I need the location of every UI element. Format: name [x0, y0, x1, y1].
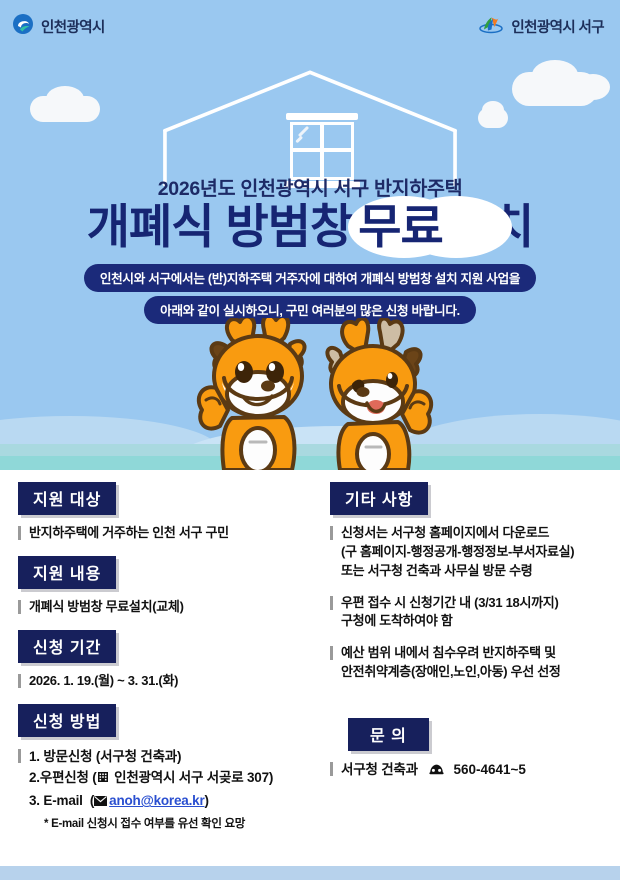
section-target-item: 반지하주택에 거주하는 인천 서구 구민: [18, 524, 318, 543]
etc-item-2-line-1: 우편 접수 시 신청기간 내 (3/31 18시까지): [341, 594, 610, 613]
section-period: 신청 기간 2026. 1. 19.(월) ~ 3. 31.(화): [18, 630, 318, 691]
etc-item-2-line-2: 구청에 도착하여야 함: [341, 612, 610, 631]
etc-item-1-line-3: 또는 서구청 건축과 사무실 방문 수령: [341, 562, 610, 581]
etc-item-1-line-2: (구 홈페이지-행정공개-행정정보-부서자료실): [341, 543, 610, 562]
method-item-3-label: E-mail: [43, 793, 82, 808]
method-item-1-text: 방문신청 (서구청 건축과): [43, 749, 181, 764]
section-target: 지원 대상 반지하주택에 거주하는 인천 서구 구민: [18, 482, 318, 543]
etc-item-2: 우편 접수 시 신청기간 내 (3/31 18시까지) 구청에 도착하여야 함: [330, 594, 610, 632]
right-column: 기타 사항 신청서는 서구청 홈페이지에서 다운로드 (구 홈페이지-행정공개-…: [330, 482, 610, 794]
seogu-logo-label: 인천광역시 서구: [511, 16, 604, 37]
method-item-2-number: 2.: [29, 770, 40, 785]
method-note: * E-mail 신청시 접수 여부를 유선 확인 요망: [18, 815, 318, 831]
inquiry-dept: 서구청 건축과: [341, 762, 418, 777]
method-item-1-number: 1.: [29, 749, 40, 764]
seogu-logo: 인천광역시 서구: [478, 13, 604, 40]
content-area: 지원 대상 반지하주택에 거주하는 인천 서구 구민 지원 내용 개폐식 방범창…: [0, 482, 620, 852]
description-banner: 인천시와 서구에서는 (반)지하주택 거주자에 대하여 개폐식 방범창 설치 지…: [0, 264, 620, 324]
footer-bar: [0, 866, 620, 880]
seogu-logo-icon: [478, 13, 504, 40]
incheon-logo: 인천광역시: [12, 13, 105, 40]
poster-subtitle: 2026년도 인천광역시 서구 반지하주택: [0, 172, 620, 201]
etc-item-1: 신청서는 서구청 홈페이지에서 다운로드 (구 홈페이지-행정공개-행정정보-부…: [330, 524, 610, 581]
method-item-2: 2.우편신청 (: [29, 767, 318, 790]
deer-mascot-thumbs-up-icon: [180, 318, 440, 470]
section-content-heading: 지원 내용: [18, 556, 116, 589]
method-item-3-number: 3.: [29, 793, 40, 808]
title-highlight: 무료: [358, 200, 442, 253]
method-list: 1. 방문신청 (서구청 건축과) 2.우편신청 (: [18, 746, 318, 814]
inquiry-row: 서구청 건축과 560-4641~5: [330, 760, 610, 781]
section-etc: 기타 사항 신청서는 서구청 홈페이지에서 다운로드 (구 홈페이지-행정공개-…: [330, 482, 610, 682]
section-method-heading: 신청 방법: [18, 704, 116, 737]
method-item-3-paren-close: ): [205, 793, 209, 808]
incheon-logo-label: 인천광역시: [41, 16, 105, 37]
etc-item-3: 예산 범위 내에서 침수우려 반지하주택 및 안전취약계층(장애인,노인,아동)…: [330, 644, 610, 682]
section-target-heading: 지원 대상: [18, 482, 116, 515]
method-item-1: 1. 방문신청 (서구청 건축과): [29, 746, 318, 768]
etc-item-1-line-1: 신청서는 서구청 홈페이지에서 다운로드: [341, 524, 610, 543]
incheon-swirl-logo-icon: [12, 13, 34, 40]
email-link[interactable]: anoh@korea.kr: [109, 793, 204, 808]
etc-item-3-line-1: 예산 범위 내에서 침수우려 반지하주택 및: [341, 644, 610, 663]
poster-title: 개폐식 방범창무료설치: [0, 198, 620, 251]
title-part-1: 개폐식 방범창: [87, 202, 353, 251]
envelope-icon: [94, 791, 107, 813]
inquiry-phone: 560-4641~5: [454, 762, 526, 777]
left-column: 지원 대상 반지하주택에 거주하는 인천 서구 구민 지원 내용 개폐식 방범창…: [18, 482, 318, 844]
post-office-icon: [97, 768, 109, 790]
telephone-icon: [429, 762, 444, 781]
section-etc-heading: 기타 사항: [330, 482, 428, 515]
method-item-2-text-post: 인천광역시 서구 서곶로 307): [111, 770, 274, 785]
method-item-3: 3. E-mail ( anoh@korea.kr): [29, 790, 318, 813]
section-content: 지원 내용 개폐식 방범창 무료설치(교체): [18, 556, 318, 617]
section-method: 신청 방법 1. 방문신청 (서구청 건축과) 2.우편신청 (: [18, 704, 318, 832]
method-item-2-text-pre: 우편신청 (: [40, 770, 97, 785]
section-inquiry: 문 의 서구청 건축과 560-4641~5: [330, 718, 610, 781]
poster-root: 인천광역시 인천광역시 서구 2026년도 인천광역시 서구 반지하주택 개폐식…: [0, 0, 620, 880]
section-period-item: 2026. 1. 19.(월) ~ 3. 31.(화): [18, 672, 318, 691]
title-highlight-wrap: 무료: [352, 202, 448, 251]
logo-header: 인천광역시 인천광역시 서구: [0, 0, 620, 50]
etc-item-3-line-2: 안전취약계층(장애인,노인,아동) 우선 선정: [341, 663, 610, 682]
section-period-heading: 신청 기간: [18, 630, 116, 663]
section-inquiry-heading: 문 의: [348, 718, 429, 751]
section-content-item: 개폐식 방범창 무료설치(교체): [18, 598, 318, 617]
description-line-1: 인천시와 서구에서는 (반)지하주택 거주자에 대하여 개폐식 방범창 설치 지…: [84, 264, 536, 292]
